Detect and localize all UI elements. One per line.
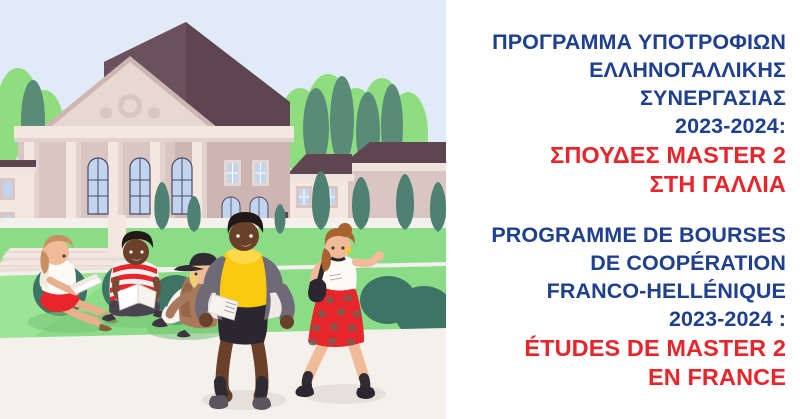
terrace-strip xyxy=(0,218,446,228)
greek-line-1: ΠΡΟΓΡΑΜΜΑ ΥΠΟΤΡΟΦΙΩΝ xyxy=(456,28,786,56)
greek-highlight-1: ΣΠΟΥΔΕΣ MASTER 2 xyxy=(456,141,786,170)
greek-year: 2023-2024: xyxy=(456,112,786,141)
greek-line-3: ΣΥΝΕΡΓΑΣΙΑΣ xyxy=(456,84,786,112)
french-line-1: PROGRAMME DE BOURSES xyxy=(456,221,786,249)
greek-highlight-2: ΣΤΗ ΓΑΛΛΙΑ xyxy=(456,170,786,199)
poster-root: ΠΡΟΓΡΑΜΜΑ ΥΠΟΤΡΟΦΙΩΝ ΕΛΛΗΝΟΓΑΛΛΙΚΗΣ ΣΥΝΕ… xyxy=(0,0,800,419)
french-title-block: PROGRAMME DE BOURSES DE COOPÉRATION FRAN… xyxy=(456,221,786,392)
entablature xyxy=(14,126,294,140)
french-year: 2023-2024 : xyxy=(456,305,786,334)
french-highlight-2: EN FRANCE xyxy=(456,363,786,392)
greek-line-2: ΕΛΛΗΝΟΓΑΛΛΙΚΗΣ xyxy=(456,56,786,84)
title-text-panel: ΠΡΟΓΡΑΜΜΑ ΥΠΟΤΡΟΦΙΩΝ ΕΛΛΗΝΟΓΑΛΛΙΚΗΣ ΣΥΝΕ… xyxy=(446,0,800,419)
french-line-2: DE COOPÉRATION xyxy=(456,249,786,277)
campus-illustration xyxy=(0,0,446,419)
campus-illustration-svg xyxy=(0,0,446,419)
french-line-3: FRANCO-HELLÉNIQUE xyxy=(456,277,786,305)
stair-pillar xyxy=(108,215,126,253)
french-highlight-1: ÉTUDES DE MASTER 2 xyxy=(456,334,786,363)
arched-windows xyxy=(88,158,192,214)
greek-title-block: ΠΡΟΓΡΑΜΜΑ ΥΠΟΤΡΟΦΙΩΝ ΕΛΛΗΝΟΓΑΛΛΙΚΗΣ ΣΥΝΕ… xyxy=(456,28,786,199)
